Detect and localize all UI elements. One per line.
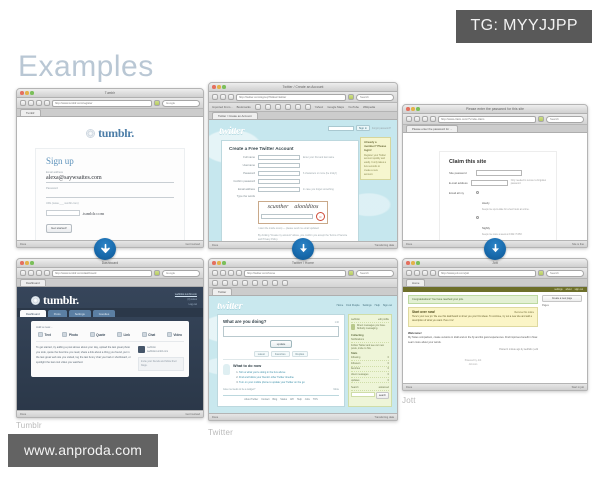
notice-box: Start over now! Remove this notice Here'… — [408, 307, 538, 327]
jott-sidebar: Create a new page Pages — [542, 295, 582, 367]
nav-settings[interactable]: Settings — [363, 304, 372, 307]
email-field[interactable]: alexa@saywsaites.com — [46, 175, 174, 183]
quote-icon — [90, 332, 95, 337]
browser-toolbar[interactable]: http://twitter.com/signup?follow=twitter… — [209, 92, 397, 103]
text-icon — [38, 332, 43, 337]
arrow-down-glyph — [489, 243, 502, 256]
profile-meta: webfolio.tumblr.com — [147, 350, 168, 353]
tab-goodies[interactable]: Goodies — [93, 310, 115, 317]
nav-about[interactable]: about — [566, 288, 572, 291]
window-title: Tumblr — [17, 91, 203, 95]
todo-list: Tell us what you're doing in the box abo… — [233, 370, 339, 385]
todo-link[interactable]: Turn on your mobile phone to update your… — [239, 381, 305, 384]
browser-window-tumblr-dashboard[interactable]: Dashboard http://www.tumblr.com/dashboar… — [16, 258, 204, 418]
rss-icon[interactable] — [154, 100, 160, 106]
signup-heading: Sign up — [46, 156, 174, 166]
update-textarea[interactable] — [223, 326, 339, 337]
post-type-chat[interactable]: Chat — [142, 332, 156, 337]
rss-link[interactable]: Give me feeds to be a widget? — [223, 388, 255, 391]
nav-sign-out[interactable]: sign out — [575, 288, 583, 291]
status-left: Done — [406, 243, 412, 246]
bird-illustration-icon — [223, 364, 230, 375]
back-icon[interactable] — [406, 270, 412, 276]
browser-toolbar[interactable]: http://www.tumblr.com/dashboard Google — [17, 268, 203, 279]
back-icon[interactable] — [20, 100, 26, 106]
create-page-button[interactable]: Create a new page — [542, 295, 582, 302]
titlebar: Twitter / Home — [209, 259, 397, 268]
caption-jott: Jott — [402, 396, 416, 405]
post-type-bar[interactable]: Text Photo Quote — [36, 332, 184, 342]
email-field[interactable] — [471, 180, 508, 186]
tab-strip[interactable]: Dashboard — [17, 279, 203, 287]
arrow-down-glyph — [297, 243, 310, 256]
address-bar[interactable]: http://twitter.com/home — [244, 270, 346, 277]
bookmark-icon[interactable] — [255, 104, 261, 110]
radio-label: Nightly — [482, 227, 490, 230]
captcha-word-2: alonlditos — [294, 204, 319, 210]
forward-icon[interactable] — [220, 270, 226, 276]
window-title: Dashboard — [17, 261, 203, 265]
account-likes[interactable]: (0) Likes — [187, 298, 197, 301]
video-icon — [167, 332, 172, 337]
update-prompt: What are you doing? — [223, 319, 266, 324]
home-icon[interactable] — [44, 100, 50, 106]
tab-twitter-home[interactable]: Twitter — [212, 288, 232, 295]
tab-twitter-signup[interactable]: Twitter / Create an Account — [212, 112, 258, 119]
field-hint: Enter your first and last name — [303, 156, 334, 159]
home-icon[interactable] — [430, 270, 436, 276]
post-meta[interactable]: Posted 1 minute ago by webfolio | edit — [408, 349, 538, 351]
radio-description: Keeps me once a week at 9 AM / 5 PM. — [482, 234, 522, 238]
tumblr-flake-icon — [31, 296, 40, 305]
tumblr-logo[interactable]: tumblr. — [31, 293, 79, 308]
status-bar: Done Start in jott — [403, 383, 587, 390]
url-suffix: .tumblr.com — [82, 211, 104, 216]
back-icon[interactable] — [406, 116, 412, 122]
claim-heading: Claim this site — [449, 159, 547, 165]
page-viewport: twitter Sign in Forgot password? Create … — [209, 120, 397, 241]
titlebar: Tumblr — [17, 89, 203, 98]
page-viewport: tumblr. Sign up Email address alexa@sayw… — [17, 117, 203, 240]
add-new-label: Add a new... — [36, 325, 184, 329]
signup-heading: Create a Free Twitter Account — [229, 146, 351, 151]
reload-icon[interactable] — [36, 270, 42, 276]
download-arrow-icon-3[interactable] — [484, 238, 506, 260]
stat-value: 0 — [388, 373, 389, 376]
footer-link[interactable]: Help — [297, 398, 302, 401]
post-type-label: Photo — [69, 333, 78, 337]
password-label: Password — [46, 187, 174, 190]
section-body: My Notes comparison, create versions in … — [408, 336, 538, 346]
twitter-wordmark: twitter — [219, 125, 244, 137]
download-arrow-icon-1[interactable] — [94, 238, 116, 260]
status-right: Transferring data — [374, 244, 394, 247]
download-arrow-icon-2[interactable] — [292, 238, 314, 260]
avatar[interactable] — [138, 346, 145, 353]
sidebar-search-input[interactable] — [351, 392, 375, 397]
email-field[interactable] — [258, 187, 300, 192]
direct-message-note: Direct messages you have. Nobody messagi… — [357, 324, 389, 332]
footer-link[interactable]: Contact — [261, 398, 269, 401]
forward-icon[interactable] — [414, 116, 420, 122]
address-bar[interactable]: http://www.jott.com/jott — [438, 270, 536, 277]
status-left: Done — [406, 386, 412, 389]
get-started-button[interactable]: Get started! — [46, 224, 72, 233]
url-label: URL (www.___.tumblr.com) — [46, 202, 174, 205]
status-right: Start in jott — [572, 386, 584, 389]
nav-settings[interactable]: settings — [554, 288, 562, 291]
reload-icon[interactable] — [228, 270, 234, 276]
twitter-wordmark: twitter — [217, 300, 242, 312]
browser-toolbar[interactable]: http://twitter.com/home Search — [209, 268, 397, 279]
rss-icon[interactable] — [538, 270, 544, 276]
radio-icon[interactable] — [476, 216, 479, 219]
forgot-password-link[interactable]: Forgot password? — [372, 127, 391, 130]
signup-form: Sign up Email address alexa@saywsaites.c… — [35, 148, 185, 240]
rss-icon[interactable] — [348, 94, 354, 100]
todo-link[interactable]: Tell us what you're doing in the box abo… — [239, 371, 285, 374]
nav-find-people[interactable]: Find People — [346, 304, 359, 307]
stat-value: 0 — [388, 379, 389, 382]
status-right: Site is fine — [572, 243, 584, 246]
tumblr-logo[interactable]: tumblr. — [17, 126, 203, 141]
tab-strip[interactable]: Twitter / Create an Account — [209, 112, 397, 120]
success-banner: Congratulations! You have reached your j… — [408, 295, 538, 304]
stat-label: favorites — [351, 367, 360, 370]
stat-label: direct messages — [351, 373, 368, 376]
caption-tumblr: Tumblr — [16, 421, 42, 430]
sidebar-profile-name[interactable]: webfolio — [351, 318, 360, 321]
tab-posts[interactable]: Posts — [48, 310, 67, 317]
stat-value: 0 — [388, 362, 389, 365]
field-label: Username — [229, 164, 255, 167]
status-bar: Done Get Involved — [17, 410, 203, 417]
post-type-label: Link — [123, 333, 130, 337]
address-bar[interactable]: http://www.tumblr.com/register — [52, 100, 152, 107]
tab-settings[interactable]: Settings — [69, 310, 91, 317]
search-input[interactable]: Google — [162, 100, 200, 107]
bookmark-icon[interactable] — [242, 280, 248, 286]
post-type-text[interactable]: Text — [38, 332, 51, 337]
reload-icon[interactable] — [422, 270, 428, 276]
radio-option-hourly[interactable]: Hourly Keeps me up-to-date for a few hou… — [476, 191, 547, 213]
bookmark-icon[interactable] — [262, 280, 268, 286]
home-icon[interactable] — [430, 116, 436, 122]
footer-link[interactable]: Blog — [272, 398, 277, 401]
forward-icon[interactable] — [220, 94, 226, 100]
update-panel: What are you doing? 140 update Latest Fa… — [217, 314, 345, 407]
status-right: Transferring data — [374, 416, 394, 419]
nav-home[interactable]: Home — [337, 304, 344, 307]
sidebar: webfolio edit profile Direct messages yo… — [348, 314, 392, 407]
reload-icon[interactable] — [422, 116, 428, 122]
logout-link[interactable]: Log out — [189, 303, 197, 306]
home-icon[interactable] — [44, 270, 50, 276]
password-field[interactable] — [476, 170, 522, 176]
tumblr-flake-icon — [86, 129, 95, 138]
update-button[interactable]: update — [270, 340, 292, 348]
bookmark-icon[interactable] — [285, 104, 291, 110]
bookmark-item[interactable]: Wikipedia — [363, 105, 375, 109]
notice-heading: Already a member? Please login! — [364, 140, 387, 153]
powered-by-line-1: Powered by Jott — [465, 360, 481, 362]
window-title: Twitter / Home — [209, 261, 397, 265]
page-title: Examples — [18, 52, 154, 82]
bookmark-item[interactable]: Google Maps — [327, 105, 344, 109]
radio-option-nightly[interactable]: Nightly Keeps me once a week at 9 AM / 5… — [476, 216, 547, 238]
bookmarks-bar[interactable]: Imported From... Bookmarks Yahoo! Google… — [209, 103, 397, 112]
chat-icon — [142, 332, 147, 337]
bookmark-item[interactable]: Yahoo! — [315, 105, 324, 109]
dashboard-sidebar: webfolio webfolio.tumblr.com Invite your… — [138, 346, 184, 371]
pages-heading: Pages — [542, 304, 582, 307]
site-url-badge: www.anproda.com — [8, 434, 158, 467]
page-viewport: twitter Home Find People Settings Help S… — [209, 296, 397, 413]
todo-link[interactable]: Find and follow your friends' other Twit… — [239, 376, 294, 379]
tab-favorites[interactable]: Favorites — [271, 351, 290, 357]
stat-row[interactable]: updates 0 — [351, 378, 389, 384]
tab-jott-home[interactable]: Home — [406, 279, 425, 286]
post-type-quote[interactable]: Quote — [90, 332, 106, 337]
bookmark-item[interactable]: YouTube — [348, 105, 359, 109]
nav-sign-out[interactable]: Sign out — [383, 304, 392, 307]
fullname-field[interactable] — [258, 155, 300, 160]
back-icon[interactable] — [20, 270, 26, 276]
captcha-input[interactable] — [261, 214, 313, 219]
radio-icon[interactable] — [476, 191, 479, 194]
password-field[interactable] — [258, 171, 300, 176]
stat-label: followers — [351, 362, 360, 365]
search-input[interactable]: Search — [546, 116, 584, 123]
address-bar[interactable]: http://twitter.com/signup?follow=twitter — [236, 94, 346, 101]
notice-body: Here's your new jot. We use this dashboa… — [412, 315, 534, 324]
field-label: Type the words — [229, 195, 255, 198]
footer-link[interactable]: Status — [280, 398, 287, 401]
search-heading: Search — [351, 386, 359, 389]
timeline-filter-tabs[interactable]: Latest Favorites Replies — [223, 351, 339, 360]
stat-label: updates — [351, 379, 360, 382]
back-icon[interactable] — [212, 94, 218, 100]
tab-strip[interactable]: Twitter — [209, 288, 397, 296]
status-left: Done — [20, 243, 26, 246]
avatar[interactable] — [351, 324, 355, 330]
status-right: Get Involved — [185, 413, 200, 416]
bookmark-icon[interactable] — [282, 280, 288, 286]
rss-icon[interactable] — [154, 270, 160, 276]
reload-icon[interactable] — [228, 94, 234, 100]
footer-link[interactable]: TOS — [313, 398, 318, 401]
bookmark-icon[interactable] — [295, 104, 301, 110]
post-type-label: Text — [45, 333, 51, 337]
browser-window-twitter-signup[interactable]: Twitter / Create an Account http://twitt… — [208, 82, 398, 249]
tg-watermark-badge: TG: MYYJJPP — [456, 10, 592, 43]
email-hint: Only needed to recover a forgotten passw… — [511, 180, 547, 187]
invite-box[interactable]: Invite your friends and follow their blo… — [138, 357, 184, 371]
post-type-photo[interactable]: Photo — [62, 332, 78, 337]
post-type-label: Video — [173, 333, 182, 337]
profile-name[interactable]: webfolio — [147, 346, 156, 349]
page-viewport: Claim this site Site password E-mail add… — [403, 133, 587, 240]
browser-toolbar[interactable]: http://www.jott.com/jott Search — [403, 268, 587, 279]
stat-label: following — [351, 356, 360, 359]
more-link[interactable]: More — [334, 388, 339, 391]
edit-profile-link[interactable]: edit profile — [378, 318, 389, 321]
rss-icon[interactable] — [538, 116, 544, 122]
bookmark-icon[interactable] — [252, 280, 258, 286]
page-viewport: tumblr. webfolio.tumblr.com (0) Likes Lo… — [17, 287, 203, 410]
browser-window-twitter-home[interactable]: Twitter / Home http://twitter.com/home S… — [208, 258, 398, 421]
titlebar: Jott — [403, 259, 587, 268]
search-input[interactable]: Search — [356, 270, 394, 277]
browser-window-claim-site[interactable]: Please enter the password for this site … — [402, 104, 588, 248]
footer-link[interactable]: API — [290, 398, 294, 401]
titlebar: Dashboard — [17, 259, 203, 268]
tab-strip[interactable]: Tumblr — [17, 109, 203, 117]
stat-value: 0 — [388, 367, 389, 370]
tab-claim-site[interactable]: Please enter the password for ... — [406, 125, 458, 132]
tab-tumblr[interactable]: Tumblr — [20, 109, 41, 116]
tumblr-wordmark: tumblr. — [43, 293, 79, 308]
arrow-down-glyph — [99, 243, 112, 256]
photo-icon — [62, 332, 67, 337]
field-hint: In case you forget something — [303, 188, 334, 191]
nav-help[interactable]: Help — [375, 304, 380, 307]
captcha-word-1: scunther — [267, 204, 288, 210]
status-bar: Done Transferring data — [209, 413, 397, 420]
intro-paragraph: To get started, try adding a post above … — [36, 346, 133, 371]
address-bar[interactable]: http://www.claim.com/?v=site.claim — [438, 116, 536, 123]
footer-link[interactable]: Jobs — [305, 398, 310, 401]
bookmark-icon[interactable] — [275, 104, 281, 110]
radio-description: Keeps me up-to-date for a few hours at a… — [482, 209, 529, 213]
tab-dashboard[interactable]: Dashboard — [20, 279, 46, 286]
status-left: Done — [212, 244, 218, 247]
tumblr-wordmark: tumblr. — [98, 126, 134, 141]
search-input[interactable]: Search — [356, 94, 394, 101]
forward-icon[interactable] — [414, 270, 420, 276]
browser-toolbar[interactable]: http://www.claim.com/?v=site.claim Searc… — [403, 114, 587, 125]
notice-body: Register your Twitter account quickly an… — [364, 154, 387, 177]
titlebar: Twitter / Create an Account — [209, 83, 397, 92]
caption-twitter: Twitter — [208, 428, 233, 437]
bookmark-icon[interactable] — [232, 280, 238, 286]
frequency-label: Email all my — [449, 191, 473, 195]
page-footer[interactable]: About Twitter Contact Blog Status API He… — [223, 395, 339, 401]
address-bar[interactable]: http://www.tumblr.com/dashboard — [52, 270, 152, 277]
password-field[interactable] — [46, 191, 174, 198]
bookmark-icon[interactable] — [305, 104, 311, 110]
slide-root: TG: MYYJJPP www.anproda.com Examples Tum… — [0, 0, 600, 480]
remove-notice-link[interactable]: Remove this notice — [514, 312, 534, 314]
forward-icon[interactable] — [28, 270, 34, 276]
field-hint: 6 characters or more (be tricky!) — [303, 172, 337, 175]
browser-toolbar[interactable]: http://www.tumblr.com/register Google — [17, 98, 203, 109]
status-left: Done — [20, 413, 26, 416]
advanced-search-link[interactable]: advanced — [379, 386, 389, 389]
sidebar-search-button[interactable]: search — [376, 392, 389, 399]
post-type-label: Chat — [148, 333, 155, 337]
signin-button[interactable]: Sign in — [356, 125, 370, 131]
bookmark-icon[interactable] — [272, 280, 278, 286]
page-viewport: settings about sign out Congratulations!… — [403, 287, 587, 383]
email-label: Email address — [46, 171, 174, 174]
notifications-heading: Notifications — [351, 338, 364, 341]
status-right: Get Involved — [185, 243, 200, 246]
bookmark-icon[interactable] — [212, 280, 218, 286]
bookmarks-bar[interactable] — [209, 279, 397, 288]
post-type-label: Quote — [96, 333, 105, 337]
section-heading: Welcome! — [408, 331, 538, 335]
forward-icon[interactable] — [28, 100, 34, 106]
powered-by-note: Powered by Jott Jott.com — [408, 359, 538, 367]
back-icon[interactable] — [212, 270, 218, 276]
password-label: Site password — [449, 171, 473, 175]
signup-form: Create a Free Twitter Account Full name … — [221, 140, 359, 241]
confirm-password-field[interactable] — [258, 179, 300, 184]
bookmark-icon[interactable] — [222, 280, 228, 286]
footer-link[interactable]: About Twitter — [244, 398, 258, 401]
post-type-video[interactable]: Video — [167, 332, 182, 337]
tab-latest[interactable]: Latest — [254, 351, 269, 357]
signin-widget[interactable]: Sign in Forgot password? — [328, 125, 391, 131]
post-type-link[interactable]: Link — [117, 332, 130, 337]
recaptcha-logo-icon: C — [316, 212, 325, 221]
url-field[interactable] — [46, 210, 80, 216]
notice-heading: Start over now! — [412, 310, 435, 314]
tab-dashboard[interactable]: Dashboard — [20, 310, 46, 317]
todo-heading: What to do now — [233, 364, 339, 368]
radio-label: Hourly — [482, 202, 490, 205]
search-input[interactable]: Search — [546, 270, 584, 277]
captcha-image: scunther alonlditos — [261, 204, 326, 210]
link-icon — [117, 332, 122, 337]
dashboard-card: Add a new... Text Photo — [31, 321, 189, 377]
window-title: Jott — [403, 261, 587, 265]
char-counter: 140 — [335, 321, 339, 324]
stat-value: 0 — [388, 356, 389, 359]
powered-by-line-2: Jott.com — [469, 364, 478, 366]
tab-replies[interactable]: Replies — [292, 351, 309, 357]
field-label: Full name — [229, 156, 255, 159]
search-input[interactable]: Google — [162, 270, 200, 277]
signin-username-field[interactable] — [328, 126, 354, 131]
username-field[interactable] — [258, 163, 300, 168]
list-item: Turn on your mobile phone to update your… — [239, 380, 339, 385]
captcha-widget[interactable]: scunther alonlditos C — [258, 201, 328, 224]
titlebar: Please enter the password for this site — [403, 105, 587, 114]
account-info[interactable]: webfolio.tumblr.com (0) Likes Log out — [175, 293, 197, 307]
window-title: Please enter the password for this site — [403, 107, 587, 111]
home-icon[interactable] — [236, 270, 242, 276]
dashboard-tabs[interactable]: Dashboard Posts Settings Goodies — [17, 308, 203, 317]
bookmark-icon[interactable] — [265, 104, 271, 110]
tab-strip[interactable]: Please enter the password for ... — [403, 125, 587, 133]
tab-strip[interactable]: Home — [403, 279, 587, 287]
bookmark-item[interactable]: Imported From... — [212, 105, 233, 109]
browser-window-tumblr-signup[interactable]: Tumblr http://www.tumblr.com/register Go… — [16, 88, 204, 248]
status-left: Done — [212, 416, 218, 419]
notifications-text: Follow Twitter and see our new posts, in… — [351, 343, 389, 351]
field-label: Password — [229, 172, 255, 175]
browser-window-jott[interactable]: Jott http://www.jott.com/jott Search Hom… — [402, 258, 588, 391]
rss-icon[interactable] — [348, 270, 354, 276]
login-notice-box: Already a member? Please login! Register… — [360, 137, 391, 180]
reload-icon[interactable] — [36, 100, 42, 106]
newsletter-checkbox-label[interactable]: I want the inside scoop — please send me… — [258, 227, 351, 231]
bookmark-item[interactable]: Bookmarks — [237, 105, 251, 109]
account-link[interactable]: webfolio.tumblr.com — [175, 293, 197, 296]
top-nav[interactable]: Home Find People Settings Help Sign out — [337, 300, 392, 307]
